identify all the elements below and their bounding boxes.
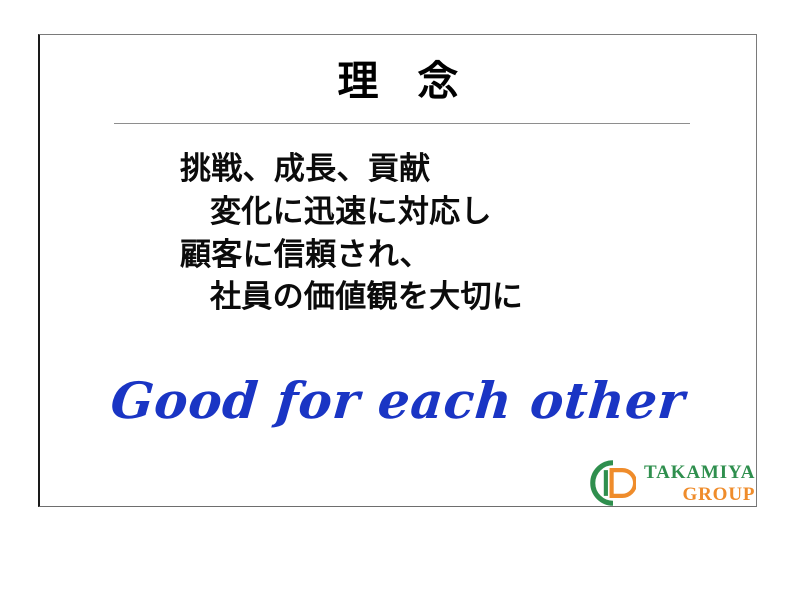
logo-company-name: TAKAMIYA <box>644 463 755 482</box>
logo-group-label: GROUP <box>682 485 755 504</box>
takamiya-group-logo: TAKAMIYA GROUP <box>590 460 755 506</box>
takamiya-group-logo-mark <box>590 460 636 506</box>
creed-line-1: 挑戦、成長、貢献 <box>180 148 680 191</box>
creed-text-block: 挑戦、成長、貢献 変化に迅速に対応し 顧客に信頼され、 社員の価値観を大切に <box>180 148 680 319</box>
creed-line-3: 顧客に信頼され、 <box>180 234 680 277</box>
slide-frame: 理 念 挑戦、成長、貢献 変化に迅速に対応し 顧客に信頼され、 社員の価値観を大… <box>38 34 757 507</box>
page-title: 理 念 <box>40 59 756 104</box>
creed-line-2: 変化に迅速に対応し <box>180 191 680 234</box>
logo-wordmark: TAKAMIYA GROUP <box>644 463 755 504</box>
tagline-text: Good for each other <box>38 375 759 428</box>
creed-line-4: 社員の価値観を大切に <box>180 276 680 319</box>
slide-canvas: 理 念 挑戦、成長、貢献 変化に迅速に対応し 顧客に信頼され、 社員の価値観を大… <box>0 0 800 600</box>
title-divider <box>114 123 690 124</box>
